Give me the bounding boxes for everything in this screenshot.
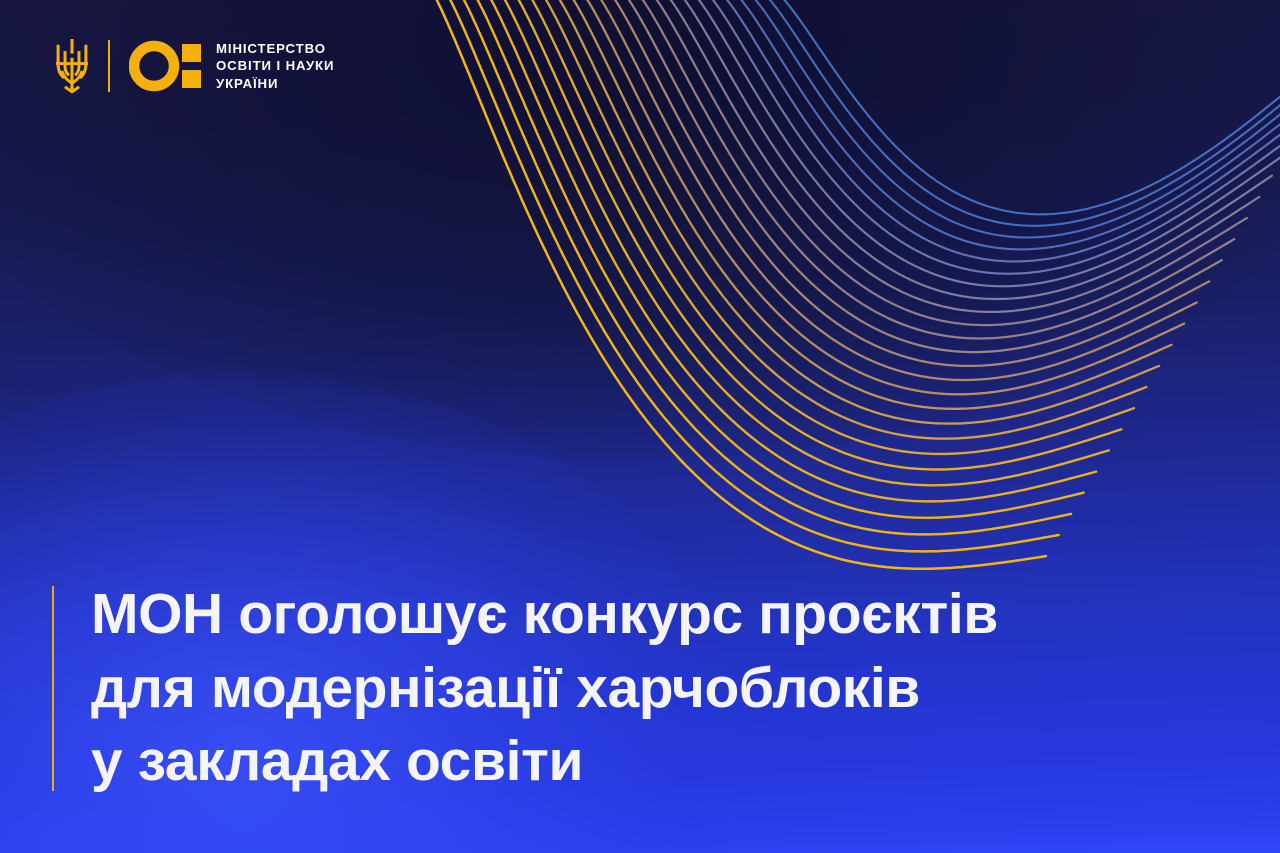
- wave-line: [682, 0, 1280, 286]
- wave-line: [601, 0, 1209, 366]
- mon-o-equals-mark: [129, 38, 201, 94]
- wave-line: [736, 0, 1280, 238]
- wave-line: [655, 0, 1260, 312]
- wave-line: [695, 0, 1280, 274]
- logo-divider: [108, 40, 110, 92]
- mon-logo-lockup[interactable]: МІНІСТЕРСТВО ОСВІТИ І НАУКИ УКРАЇНИ: [52, 38, 334, 94]
- wave-line: [493, 0, 1109, 485]
- headline-line-2: для модернізації харчоблоків: [91, 652, 998, 726]
- wave-line: [668, 0, 1272, 299]
- wave-line: [507, 0, 1122, 470]
- ministry-line-3: УКРАЇНИ: [216, 75, 334, 93]
- ministry-line-1: МІНІСТЕРСТВО: [216, 40, 334, 58]
- wave-line: [534, 0, 1147, 439]
- wave-line: [628, 0, 1234, 338]
- wave-line: [615, 0, 1222, 352]
- banner-root: МІНІСТЕРСТВО ОСВІТИ І НАУКИ УКРАЇНИ МОН …: [0, 0, 1280, 853]
- headline-line-1: МОН оголошує конкурс проєктів: [91, 578, 998, 652]
- wave-line: [547, 0, 1159, 424]
- headline-block: МОН оголошує конкурс проєктів для модерн…: [52, 578, 998, 799]
- ministry-line-2: ОСВІТИ І НАУКИ: [216, 57, 334, 75]
- wave-line: [466, 0, 1083, 518]
- wave-line: [453, 0, 1071, 534]
- page-title: МОН оголошує конкурс проєктів для модерн…: [91, 578, 998, 799]
- wave-line: [561, 0, 1172, 409]
- wave-line: [722, 0, 1280, 249]
- wave-line: [709, 0, 1280, 261]
- wave-line: [480, 0, 1096, 501]
- wave-line: [641, 0, 1246, 325]
- wave-line: [763, 0, 1280, 214]
- wave-line: [426, 0, 1046, 569]
- accent-rule: [52, 586, 54, 791]
- wave-line: [574, 0, 1184, 394]
- ministry-name: МІНІСТЕРСТВО ОСВІТИ І НАУКИ УКРАЇНИ: [216, 40, 334, 93]
- headline-line-3: у закладах освіти: [91, 725, 998, 799]
- wave-line: [440, 0, 1059, 551]
- wave-line: [520, 0, 1134, 454]
- wave-line: [749, 0, 1280, 226]
- ukraine-trident-emblem: [52, 39, 92, 94]
- wave-line: [588, 0, 1197, 380]
